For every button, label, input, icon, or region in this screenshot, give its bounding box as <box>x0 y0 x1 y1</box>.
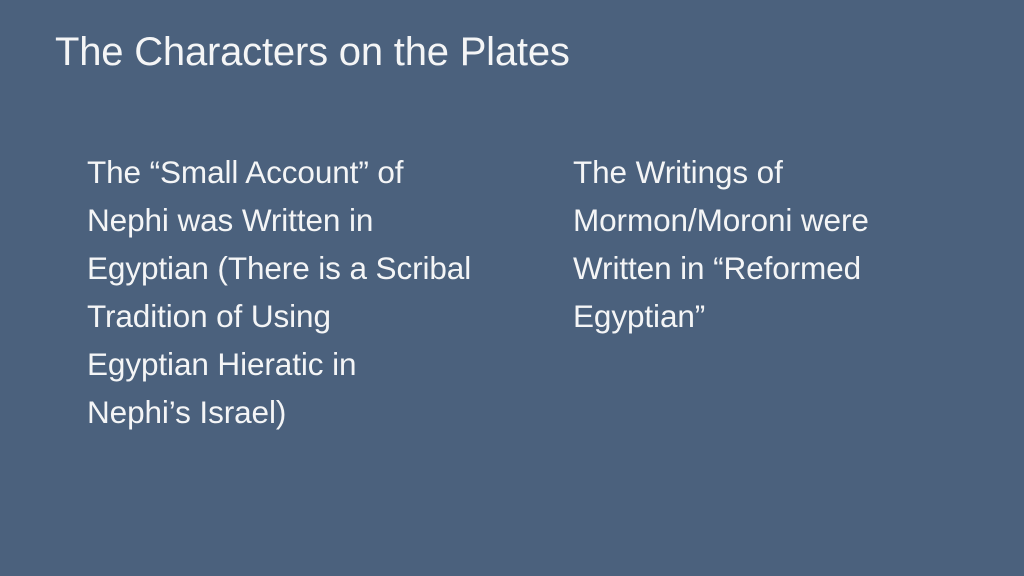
text-line: The Writings of <box>573 148 973 196</box>
text-line: Egyptian” <box>573 292 973 340</box>
text-column-right: The Writings of Mormon/Moroni were Writt… <box>573 148 973 340</box>
slide-body: The “Small Account” of Nephi was Written… <box>0 148 1024 448</box>
text-line: Egyptian (There is a Scribal <box>87 244 539 292</box>
text-column-left: The “Small Account” of Nephi was Written… <box>87 148 539 436</box>
text-line: Written in “Reformed <box>573 244 973 292</box>
text-line: Nephi’s Israel) <box>87 388 539 436</box>
presentation-slide: The Characters on the Plates The “Small … <box>0 0 1024 576</box>
text-line: The “Small Account” of <box>87 148 539 196</box>
text-line: Mormon/Moroni were <box>573 196 973 244</box>
text-line: Egyptian Hieratic in <box>87 340 539 388</box>
text-line: Tradition of Using <box>87 292 539 340</box>
text-line: Nephi was Written in <box>87 196 539 244</box>
slide-title: The Characters on the Plates <box>55 26 955 78</box>
